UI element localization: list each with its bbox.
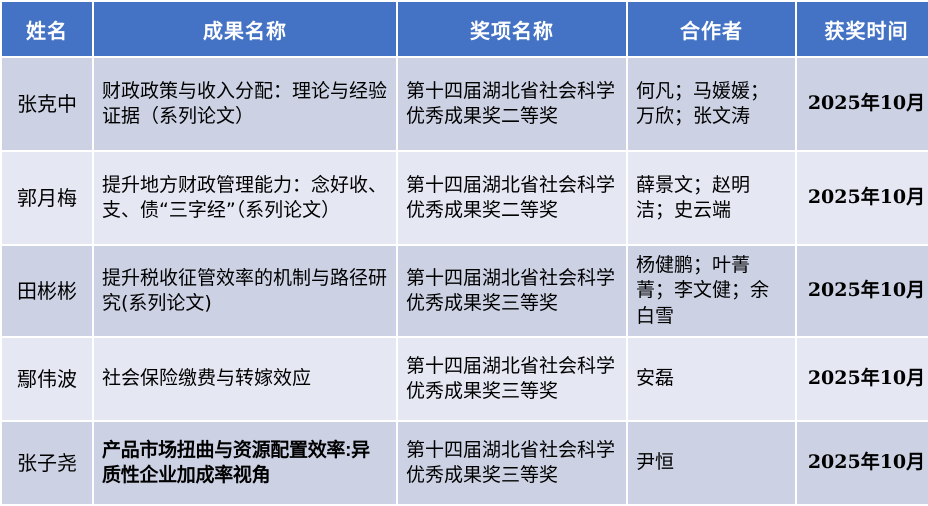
- cell-award: 第十四届湖北省社会科学优秀成果奖二等奖: [398, 58, 626, 150]
- cell-award: 第十四届湖北省社会科学优秀成果奖三等奖: [398, 422, 626, 504]
- cell-name: 张克中: [2, 58, 92, 150]
- cell-achievement: 提升税收征管效率的机制与路径研究(系列论文): [94, 246, 396, 336]
- table-row: 郭月梅 提升地方财政管理能力：念好收、支、债“三字经”（系列论文） 第十四届湖北…: [2, 152, 928, 244]
- cell-achievement: 社会保险缴费与转嫁效应: [94, 338, 396, 420]
- cell-date: 2025年10月: [797, 58, 928, 150]
- cell-award: 第十四届湖北省社会科学优秀成果奖三等奖: [398, 338, 626, 420]
- cell-collaborators: 薛景文；赵明洁；史云端: [628, 152, 795, 244]
- column-header-award: 奖项名称: [398, 2, 626, 56]
- cell-date: 2025年10月: [797, 246, 928, 336]
- table-body: 张克中 财政政策与收入分配：理论与经验证据（系列论文） 第十四届湖北省社会科学优…: [2, 58, 928, 504]
- table-row: 张克中 财政政策与收入分配：理论与经验证据（系列论文） 第十四届湖北省社会科学优…: [2, 58, 928, 150]
- cell-collaborators: 安磊: [628, 338, 795, 420]
- column-header-name: 姓名: [2, 2, 92, 56]
- cell-name: 田彬彬: [2, 246, 92, 336]
- column-header-date: 获奖时间: [797, 2, 928, 56]
- cell-name: 张子尧: [2, 422, 92, 504]
- cell-date: 2025年10月: [797, 422, 928, 504]
- cell-achievement: 产品市场扭曲与资源配置效率:异质性企业加成率视角: [94, 422, 396, 504]
- cell-collaborators: 何凡；马媛媛；万欣；张文涛: [628, 58, 795, 150]
- table-row: 张子尧 产品市场扭曲与资源配置效率:异质性企业加成率视角 第十四届湖北省社会科学…: [2, 422, 928, 504]
- cell-name: 鄢伟波: [2, 338, 92, 420]
- cell-name: 郭月梅: [2, 152, 92, 244]
- cell-award: 第十四届湖北省社会科学优秀成果奖二等奖: [398, 152, 626, 244]
- awards-table: 姓名 成果名称 奖项名称 合作者 获奖时间 张克中 财政政策与收入分配：理论与经…: [0, 0, 928, 506]
- table-row: 田彬彬 提升税收征管效率的机制与路径研究(系列论文) 第十四届湖北省社会科学优秀…: [2, 246, 928, 336]
- cell-achievement: 提升地方财政管理能力：念好收、支、债“三字经”（系列论文）: [94, 152, 396, 244]
- cell-achievement: 财政政策与收入分配：理论与经验证据（系列论文）: [94, 58, 396, 150]
- cell-award: 第十四届湖北省社会科学优秀成果奖三等奖: [398, 246, 626, 336]
- cell-collaborators: 尹恒: [628, 422, 795, 504]
- cell-date: 2025年10月: [797, 152, 928, 244]
- cell-date: 2025年10月: [797, 338, 928, 420]
- column-header-achievement: 成果名称: [94, 2, 396, 56]
- column-header-collaborators: 合作者: [628, 2, 795, 56]
- table-row: 鄢伟波 社会保险缴费与转嫁效应 第十四届湖北省社会科学优秀成果奖三等奖 安磊 2…: [2, 338, 928, 420]
- table-header: 姓名 成果名称 奖项名称 合作者 获奖时间: [2, 2, 928, 56]
- cell-collaborators: 杨健鹏；叶菁菁；李文健；余白雪: [628, 246, 795, 336]
- table-header-row: 姓名 成果名称 奖项名称 合作者 获奖时间: [2, 2, 928, 56]
